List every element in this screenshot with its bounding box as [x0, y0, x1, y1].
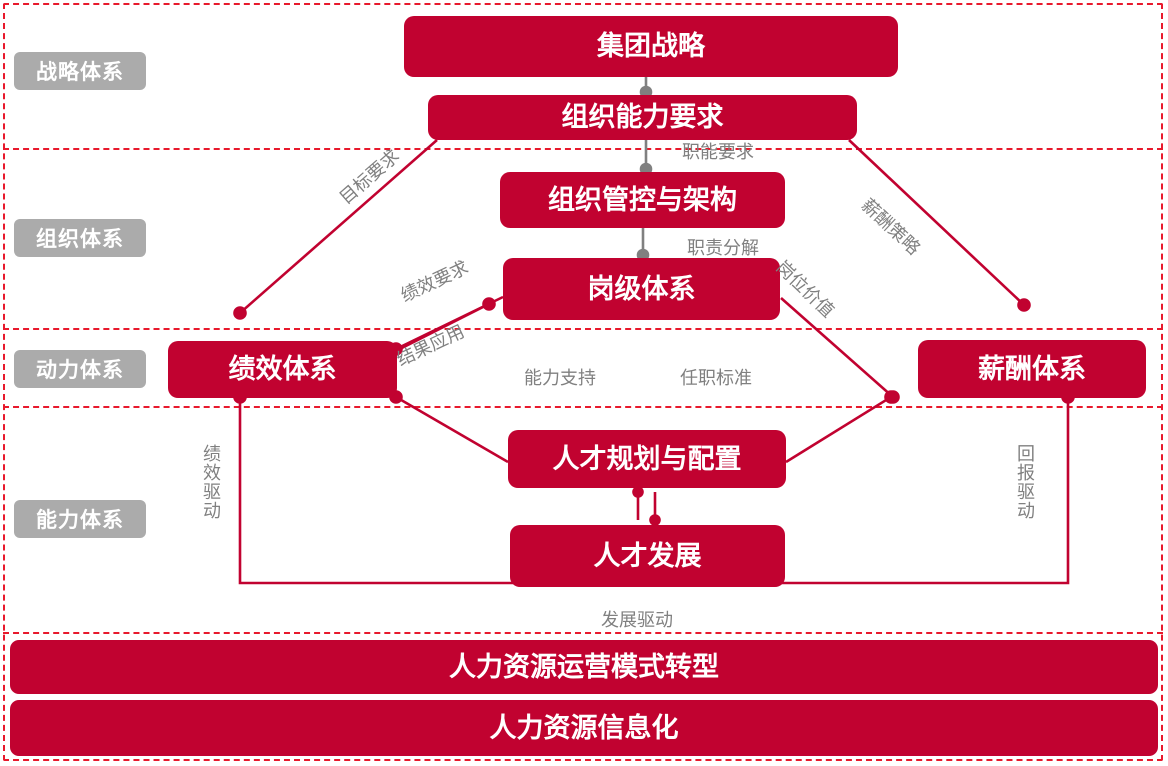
- node-group-strategy[interactable]: 集团战略: [404, 16, 898, 77]
- band-tag-motivation: 动力体系: [14, 350, 146, 388]
- node-job-grade-system[interactable]: 岗级体系: [503, 258, 780, 320]
- band-tag-strategy: 战略体系: [14, 52, 146, 90]
- footer-bar-hr-operating-model[interactable]: 人力资源运营模式转型: [10, 640, 1158, 694]
- edge-label-capability-support: 能力支持: [524, 364, 596, 390]
- edge-label-return-drive: 回报驱动: [1012, 444, 1038, 520]
- band-tag-organization: 组织体系: [14, 219, 146, 257]
- footer-bar-hr-informatization[interactable]: 人力资源信息化: [10, 700, 1158, 756]
- node-org-control-structure[interactable]: 组织管控与架构: [500, 172, 785, 228]
- edge-label-performance-drive: 绩效驱动: [198, 444, 224, 520]
- edge-label-functional-requirement: 职能要求: [682, 138, 754, 164]
- band-tag-capability: 能力体系: [14, 500, 146, 538]
- diagram-canvas: 战略体系 组织体系 动力体系 能力体系 集团战略 组织能力要求 组织管控与架构 …: [0, 0, 1168, 766]
- edge-label-duty-decomposition: 职责分解: [687, 234, 759, 260]
- node-org-capability-requirement[interactable]: 组织能力要求: [428, 95, 857, 140]
- node-compensation-system[interactable]: 薪酬体系: [918, 340, 1146, 398]
- node-performance-system[interactable]: 绩效体系: [168, 341, 397, 398]
- node-talent-development[interactable]: 人才发展: [510, 525, 785, 587]
- edge-label-qualification-standard: 任职标准: [680, 364, 752, 390]
- node-talent-planning[interactable]: 人才规划与配置: [508, 430, 786, 488]
- edge-label-development-drive: 发展驱动: [601, 606, 673, 632]
